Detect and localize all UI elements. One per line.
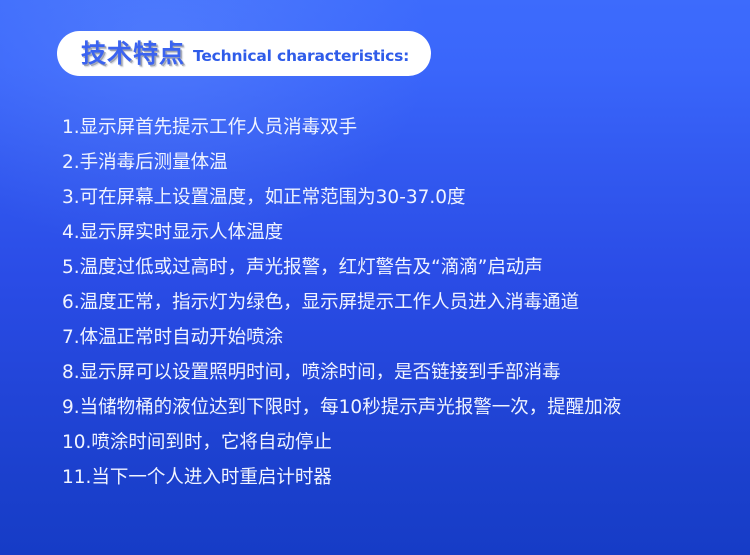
list-item: 11.当下一个人进入时重启计时器 — [62, 460, 730, 495]
list-item: 9.当储物桶的液位达到下限时，每10秒提示声光报警一次，提醒加液 — [62, 390, 730, 425]
section-title-badge: 技术特点 Technical characteristics: — [57, 31, 431, 76]
list-item: 6.温度正常，指示灯为绿色，显示屏提示工作人员进入消毒通道 — [62, 285, 730, 320]
section-title-chinese: 技术特点 — [81, 41, 185, 66]
section-title-english: Technical characteristics: — [193, 49, 409, 65]
list-item: 5.温度过低或过高时，声光报警，红灯警告及“滴滴”启动声 — [62, 250, 730, 285]
list-item: 2.手消毒后测量体温 — [62, 145, 730, 180]
list-item: 4.显示屏实时显示人体温度 — [62, 215, 730, 250]
list-item: 3.可在屏幕上设置温度，如正常范围为30-37.0度 — [62, 180, 730, 215]
list-item: 7.体温正常时自动开始喷涂 — [62, 320, 730, 355]
list-item: 1.显示屏首先提示工作人员消毒双手 — [62, 110, 730, 145]
feature-list: 1.显示屏首先提示工作人员消毒双手 2.手消毒后测量体温 3.可在屏幕上设置温度… — [62, 110, 730, 495]
list-item: 10.喷涂时间到时，它将自动停止 — [62, 425, 730, 460]
list-item: 8.显示屏可以设置照明时间，喷涂时间，是否链接到手部消毒 — [62, 355, 730, 390]
promo-banner: 技术特点 Technical characteristics: 1.显示屏首先提… — [0, 0, 750, 555]
